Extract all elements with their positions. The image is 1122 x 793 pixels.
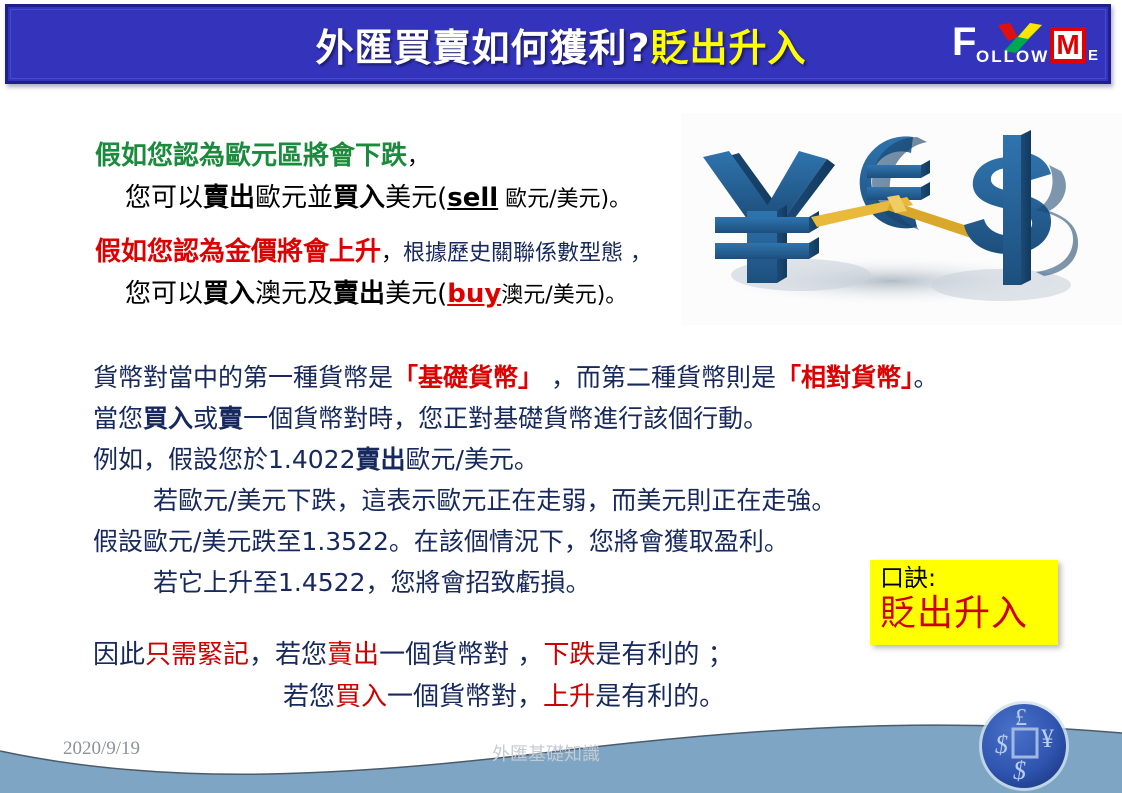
explanation-line-2: 當您買入或賣一個貨幣對時，您正對基礎貨幣進行該個行動。: [93, 398, 939, 439]
title-bar: 外匯買賣如何獲利?貶出升入 F OLLOW M E: [5, 4, 1111, 84]
conclusion-remember: 只需緊記: [145, 640, 249, 670]
title-main: 外匯買賣如何獲利?: [315, 17, 650, 72]
base-currency-term: 「基礎貨幣」: [393, 363, 543, 392]
conclusion-fall: 下跌: [543, 640, 595, 670]
euro-pair-label: 歐元/美元)。: [498, 187, 631, 212]
explanation-line4-text: 若歐元/美元下跌，這表示歐元正在走弱，而美元則正在走強。: [153, 486, 836, 515]
title-highlight: 貶出升入: [651, 17, 807, 72]
euro-action-mid: 歐元並: [255, 183, 333, 213]
explanation-line-1: 貨幣對當中的第一種貨幣是「基礎貨幣」 ，而第二種貨幣則是「相對貨幣」。: [93, 357, 939, 398]
scenario-euro-line1: 假如您認為歐元區將會下跌，: [95, 136, 631, 178]
followme-logo: F OLLOW M E: [952, 21, 1092, 73]
explanation-line6-text: 若它上升至1.4522，您將會招致虧損。: [153, 568, 590, 597]
coin-dollar-icon: $: [995, 730, 1008, 759]
euro-action-sell-en: sell: [447, 183, 498, 213]
scenario-block-euro: 假如您認為歐元區將會下跌， 您可以賣出歐元並買入美元(sell 歐元/美元)。: [95, 136, 631, 220]
line2-rest: 一個貨幣對時，您正對基礎貨幣進行該個行動。: [243, 404, 768, 433]
example-sell: 賣出: [355, 445, 405, 474]
coin-pound-icon: £: [1015, 705, 1027, 731]
euro-action-suffix: 美元(: [385, 183, 447, 213]
logo-letter-f: F: [952, 23, 976, 61]
explanation-line1-end: 。: [914, 363, 939, 392]
logo-letter-e: E: [1088, 47, 1098, 64]
base-currency-intro: 貨幣對當中的第一種貨幣是: [93, 363, 393, 392]
explanation-line-6: 若它上升至1.4522，您將會招致虧損。: [93, 562, 939, 603]
logo-letter-m: M: [1050, 27, 1086, 63]
logo-letters-ollow: OLLOW: [976, 47, 1049, 67]
currency-3d-illustration: [681, 113, 1122, 325]
gold-action-prefix: 您可以: [125, 279, 203, 309]
scenario-block-gold: 假如您認為金價將會上升，根據歷史關聯係數型態 ， 您可以買入澳元及賣出美元(bu…: [95, 232, 652, 316]
scenario-euro-comma: ，: [407, 145, 429, 170]
coin-dollar-icon-2: $: [1013, 756, 1026, 785]
scenario-euro-condition: 假如您認為歐元區將會下跌: [95, 141, 407, 171]
euro-action-buy: 買入: [333, 183, 385, 213]
conclusion-mid-2: 一個貨幣對 ，: [379, 640, 543, 670]
conclusion-prefix: 因此: [93, 640, 145, 670]
explanation-line5-text: 假設歐元/美元跌至1.3522。在該個情況下，您將會獲取盈利。: [93, 527, 789, 556]
conclusion-mid-1: ，若您: [249, 640, 327, 670]
quote-currency-intro: ，而第二種貨幣則是: [543, 363, 776, 392]
gold-pair-label: 澳元/美元)。: [501, 283, 627, 308]
line2-prefix: 當您: [93, 404, 143, 433]
mnemonic-label: 口訣:: [880, 564, 1058, 592]
explanation-line-3: 例如，假設您於1.4022賣出歐元/美元。: [93, 439, 939, 480]
coin-yen-icon: ¥: [1041, 724, 1054, 753]
scenario-euro-line2: 您可以賣出歐元並買入美元(sell 歐元/美元)。: [125, 178, 631, 220]
line2-buy: 買入: [143, 404, 193, 433]
currency-symbols-image: [681, 113, 1122, 325]
example-intro: 例如，假設您於1.4022: [93, 445, 355, 474]
slide-date: 2020/9/19: [63, 738, 140, 760]
conclusion-sell: 賣出: [327, 640, 379, 670]
explanation-line-4: 若歐元/美元下跌，這表示歐元正在走弱，而美元則正在走強。: [93, 480, 939, 521]
footer-center-text: 外匯基礎知識: [492, 740, 600, 766]
line2-sell: 賣: [218, 404, 243, 433]
conclusion-line-1: 因此只需緊記，若您賣出一個貨幣對 ，下跌是有利的 ；: [93, 634, 734, 676]
scenario-gold-condition: 假如您認為金價將會上升: [95, 237, 381, 267]
quote-currency-term: 「相對貨幣」: [776, 363, 914, 392]
mnemonic-callout: 口訣: 貶出升入: [870, 560, 1058, 645]
gold-action-buy: 買入: [203, 279, 255, 309]
explanation-block: 貨幣對當中的第一種貨幣是「基礎貨幣」 ，而第二種貨幣則是「相對貨幣」。 當您買入…: [93, 357, 939, 603]
mnemonic-phrase: 貶出升入: [880, 592, 1058, 636]
gold-action-mid: 澳元及: [255, 279, 333, 309]
gold-action-buy-en: buy: [447, 279, 501, 309]
scenario-gold-line1: 假如您認為金價將會上升，根據歷史關聯係數型態 ，: [95, 232, 652, 274]
scenario-gold-note: 根據歷史關聯係數型態 ，: [403, 241, 652, 266]
gold-action-suffix: 美元(: [385, 279, 447, 309]
euro-action-prefix: 您可以: [125, 183, 203, 213]
page-title: 外匯買賣如何獲利?貶出升入: [8, 7, 1114, 81]
conclusion-end-1: 是有利的 ；: [595, 640, 733, 670]
explanation-line-5: 假設歐元/美元跌至1.3522。在該個情況下，您將會獲取盈利。: [93, 521, 939, 562]
example-pair: 歐元/美元。: [406, 445, 539, 474]
currency-coin-logo: $ ¥ £ $: [975, 697, 1073, 793]
line2-or: 或: [193, 404, 218, 433]
euro-action-sell: 賣出: [203, 183, 255, 213]
scenario-gold-line2: 您可以買入澳元及賣出美元(buy澳元/美元)。: [125, 274, 652, 316]
slide: 外匯買賣如何獲利?貶出升入 F OLLOW M E: [0, 0, 1122, 793]
gold-action-sell: 賣出: [333, 279, 385, 309]
scenario-gold-comma: ，: [381, 241, 403, 266]
